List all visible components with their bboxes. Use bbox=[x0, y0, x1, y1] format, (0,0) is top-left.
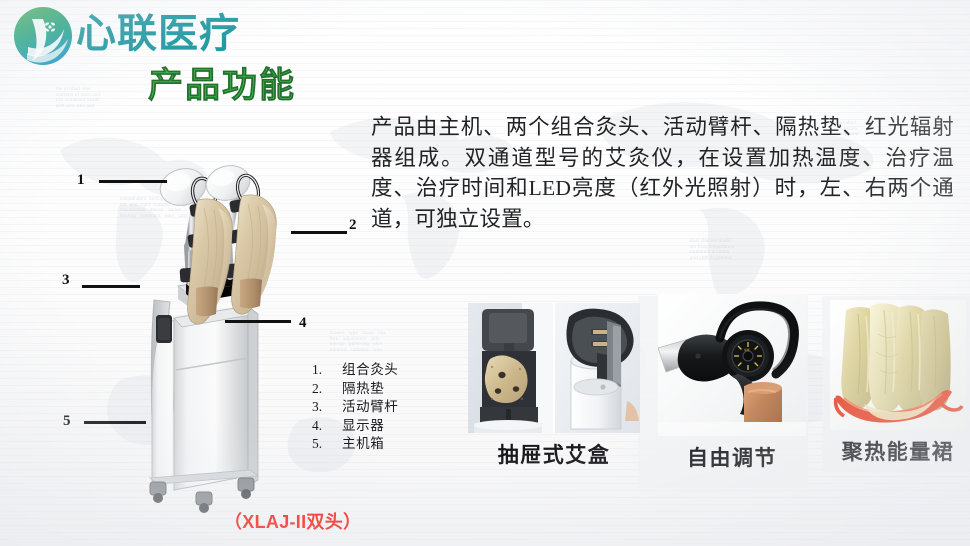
feature-caption: 自由调节 bbox=[658, 442, 806, 472]
legend-label: 主机箱 bbox=[342, 435, 384, 454]
callout-line-4 bbox=[225, 320, 291, 323]
adjustable-joint-photo: 锁 bbox=[658, 294, 806, 436]
callout-number-5: 5 bbox=[63, 413, 71, 430]
legend-label: 显示器 bbox=[342, 417, 384, 436]
callout-line-2 bbox=[291, 231, 347, 234]
legend-label: 组合灸头 bbox=[342, 361, 398, 380]
watermark-text-block: dual channel model set heat temperature … bbox=[690, 238, 735, 260]
callout-line-1 bbox=[99, 180, 167, 183]
feature-caption: 聚热能量裙 bbox=[830, 436, 966, 466]
callout-number-4: 4 bbox=[299, 315, 307, 332]
slide-canvas: the product line consists of main unit t… bbox=[0, 0, 970, 546]
legend-label: 隔热垫 bbox=[342, 380, 384, 399]
page-title: 产品功能 bbox=[148, 64, 296, 108]
feature-drawer-moxa-box: 抽屉式艾盒 bbox=[468, 303, 640, 469]
list-item: 1. 组合灸头 bbox=[312, 361, 452, 380]
callout-line-3 bbox=[82, 285, 140, 288]
legend-index: 1. bbox=[312, 361, 342, 380]
legend-label: 活动臂杆 bbox=[342, 398, 398, 417]
company-logo bbox=[14, 7, 72, 65]
watermark-text-block: drawer type moxa box free adjustment joi… bbox=[330, 330, 386, 352]
feature-adjustable-joint: 锁 自由调节 bbox=[658, 294, 806, 472]
logo-circle bbox=[14, 7, 72, 65]
list-item: 4. 显示器 bbox=[312, 417, 452, 436]
list-item: 5. 主机箱 bbox=[312, 435, 452, 454]
moxa-box-inner-mechanism-photo bbox=[555, 303, 640, 433]
list-item: 3. 活动臂杆 bbox=[312, 398, 452, 417]
heat-gathering-energy-skirt-photo bbox=[830, 300, 966, 430]
company-name: 心联医疗 bbox=[76, 9, 240, 59]
legend-index: 4. bbox=[312, 417, 342, 436]
watermark-text-block: the product line consists of main unit t… bbox=[56, 86, 100, 108]
model-label: （XLAJ-II双头） bbox=[224, 508, 361, 534]
leaf-book-icon bbox=[14, 7, 72, 65]
list-item: 2. 隔热垫 bbox=[312, 380, 452, 399]
moxa-box-open-lid-photo bbox=[468, 303, 553, 433]
callout-number-1: 1 bbox=[77, 172, 85, 189]
callout-line-5 bbox=[84, 421, 146, 424]
legend-index: 5. bbox=[312, 435, 342, 454]
moxibustion-device-illustration bbox=[92, 160, 332, 520]
feature-energy-skirt: 聚热能量裙 bbox=[830, 300, 966, 466]
legend-index: 3. bbox=[312, 398, 342, 417]
component-legend-list: 1. 组合灸头 2. 隔热垫 3. 活动臂杆 4. 显示器 5. 主机箱 bbox=[312, 361, 452, 454]
callout-number-3: 3 bbox=[62, 272, 70, 289]
legend-index: 2. bbox=[312, 380, 342, 399]
drawer-moxa-box-photo bbox=[468, 303, 640, 433]
intro-paragraph: 产品由主机、两个组合灸头、活动臂杆、隔热垫、红光辐射器组成。双通道型号的艾灸仪，… bbox=[371, 112, 954, 234]
callout-number-2: 2 bbox=[349, 217, 357, 234]
feature-caption: 抽屉式艾盒 bbox=[468, 439, 640, 469]
